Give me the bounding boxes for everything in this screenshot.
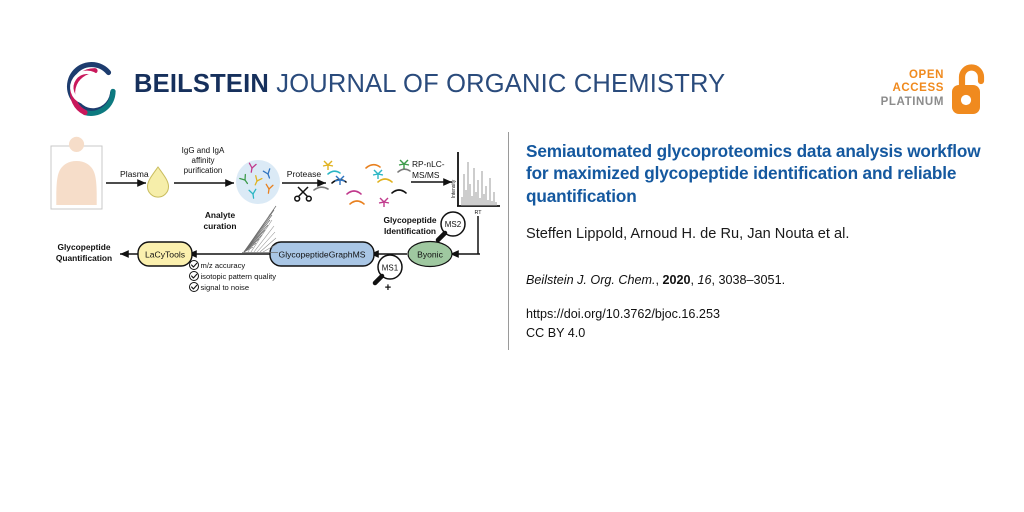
lc-label-2: MS/MS [412, 170, 440, 180]
citation-sep-2: , [691, 273, 698, 287]
journal-header: BEILSTEIN JOURNAL OF ORGANIC CHEMISTRY O… [0, 0, 1024, 132]
chromatogram-icon: Intensity RT [451, 152, 500, 216]
magnifier-ms1-icon: MS1 + [375, 255, 402, 294]
article-citation: Beilstein J. Org. Chem., 2020, 16, 3038–… [526, 272, 996, 289]
quantification-label-1: Glycopeptide [57, 242, 110, 252]
open-access-text: OPEN ACCESS PLATINUM [881, 69, 944, 110]
plasma-label: Plasma [120, 169, 149, 179]
identification-label-1: Glycopeptide [383, 215, 436, 225]
open-access-line1: OPEN [881, 69, 944, 83]
article-doi-block: https://doi.org/10.3762/bjoc.16.253 CC B… [526, 305, 996, 343]
criteria-item-0: m/z accuracy [190, 261, 246, 271]
criteria-label-1: isotopic pattern quality [201, 272, 277, 281]
lc-label-1: RP-nLC- [412, 159, 445, 169]
curation-criteria-list: m/z accuracy isotopic pattern quality si… [190, 261, 277, 293]
beilstein-logo-icon [58, 58, 124, 124]
scissors-icon [295, 187, 311, 201]
article-title: Semiautomated glycoproteomics data analy… [526, 140, 996, 207]
open-access-line2: ACCESS [881, 82, 944, 96]
journal-title-rest: JOURNAL OF ORGANIC CHEMISTRY [269, 70, 725, 98]
byonic-label: Byonic [417, 250, 443, 260]
ms1-plus-label: + [385, 282, 391, 294]
article-license: CC BY 4.0 [526, 324, 996, 343]
glycopeptidegraphms-node[interactable]: GlycopeptideGraphMS [270, 242, 374, 266]
vertical-divider [508, 132, 509, 350]
glycopeptide-fragments-icon [314, 165, 410, 204]
article-authors: Steffen Lippold, Arnoud H. de Ru, Jan No… [526, 225, 996, 244]
plasma-droplet-icon [148, 167, 169, 197]
criteria-label-0: m/z accuracy [201, 261, 246, 270]
byonic-node[interactable]: Byonic [408, 242, 452, 267]
curation-label-1: Analyte [205, 210, 236, 220]
chromatogram-xlabel: RT [474, 210, 482, 216]
citation-pages: 3038–3051. [719, 273, 786, 287]
criteria-label-2: signal to noise [201, 283, 250, 292]
journal-article-card: BEILSTEIN JOURNAL OF ORGANIC CHEMISTRY O… [0, 0, 1024, 512]
journal-title: BEILSTEIN JOURNAL OF ORGANIC CHEMISTRY [134, 70, 725, 99]
chromatogram-ylabel: Intensity [451, 179, 457, 198]
citation-journal: Beilstein J. Org. Chem. [526, 273, 655, 287]
citation-volume: 16 [698, 273, 712, 287]
ms1-label: MS1 [382, 264, 399, 273]
curation-label-2: curation [203, 221, 236, 231]
ms2-label: MS2 [445, 220, 462, 229]
workflow-figure: Plasma IgG and IgA affinity purification [48, 134, 498, 334]
article-info-panel: Semiautomated glycoproteomics data analy… [526, 140, 996, 343]
human-torso-icon [51, 137, 102, 209]
workflow-svg: Plasma IgG and IgA affinity purification [48, 134, 500, 334]
open-access-line3: PLATINUM [881, 96, 944, 110]
affinity-label-2: affinity [192, 156, 215, 165]
beilstein-swirl-svg [58, 58, 124, 124]
lacytools-label: LaCyTools [145, 250, 185, 260]
citation-year: 2020 [662, 273, 690, 287]
affinity-label-3: purification [184, 166, 223, 175]
article-doi[interactable]: https://doi.org/10.3762/bjoc.16.253 [526, 305, 996, 324]
identification-label-2: Identification [384, 226, 436, 236]
affinity-label-1: IgG and IgA [182, 146, 225, 155]
glycopeptidegraphms-label: GlycopeptideGraphMS [279, 250, 366, 260]
quantification-label-2: Quantification [56, 253, 112, 263]
lacytools-node[interactable]: LaCyTools [138, 242, 192, 266]
citation-sep-3: , [712, 273, 719, 287]
open-access-badge: OPEN ACCESS PLATINUM [881, 58, 990, 120]
magnifier-ms2-icon: MS2 [438, 212, 465, 240]
criteria-item-2: signal to noise [190, 283, 250, 293]
journal-title-bold: BEILSTEIN [134, 70, 269, 98]
protease-label: Protease [287, 169, 322, 179]
open-padlock-icon [950, 62, 990, 116]
criteria-item-1: isotopic pattern quality [190, 272, 277, 282]
antibody-pool-icon [236, 160, 280, 204]
